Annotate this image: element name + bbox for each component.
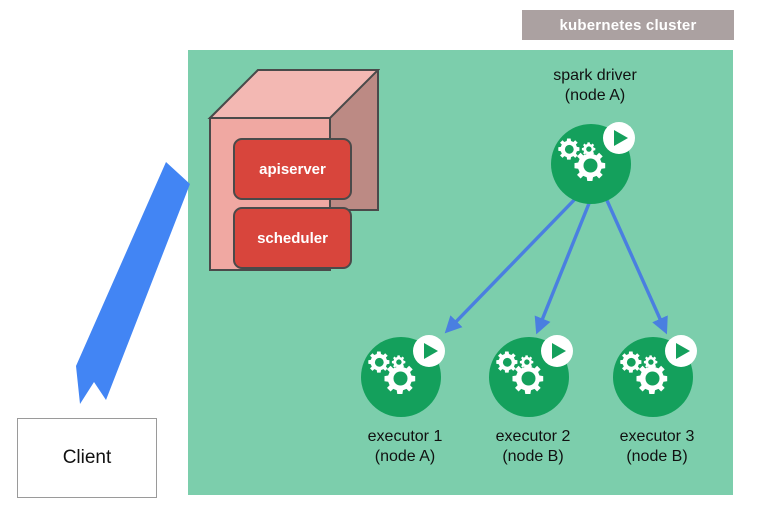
play-badge-icon bbox=[541, 335, 573, 367]
control-plane-cube: apiserver scheduler bbox=[200, 60, 380, 280]
client-box[interactable]: Client bbox=[17, 418, 157, 498]
apiserver-box[interactable]: apiserver bbox=[233, 138, 352, 200]
play-badge-icon bbox=[413, 335, 445, 367]
spark-submit-arrow-shape bbox=[76, 162, 190, 404]
client-label: Client bbox=[63, 447, 112, 469]
spark-driver-node-id: (node A) bbox=[520, 86, 670, 106]
executor-3-node[interactable] bbox=[611, 329, 701, 419]
executor-3-node-id: (node B) bbox=[582, 447, 732, 467]
kubernetes-cluster-banner: kubernetes cluster bbox=[522, 10, 734, 40]
apiserver-label: apiserver bbox=[259, 161, 326, 178]
executor-3-name: executor 3 bbox=[582, 427, 732, 447]
kubernetes-cluster-banner-label: kubernetes cluster bbox=[560, 17, 697, 34]
scheduler-box[interactable]: scheduler bbox=[233, 207, 352, 269]
spark-driver-name: spark driver bbox=[520, 66, 670, 86]
executor-1-node[interactable] bbox=[359, 329, 449, 419]
executor-3-label: executor 3 (node B) bbox=[582, 427, 732, 467]
spark-driver-label: spark driver (node A) bbox=[520, 66, 670, 106]
play-badge-icon bbox=[665, 335, 697, 367]
diagram-canvas: spark-submit apiserver scheduler bbox=[0, 0, 761, 516]
play-badge-icon bbox=[603, 122, 635, 154]
spark-submit-arrow bbox=[58, 160, 218, 410]
spark-driver-node[interactable] bbox=[549, 116, 639, 206]
scheduler-label: scheduler bbox=[257, 230, 328, 247]
executor-2-node[interactable] bbox=[487, 329, 577, 419]
